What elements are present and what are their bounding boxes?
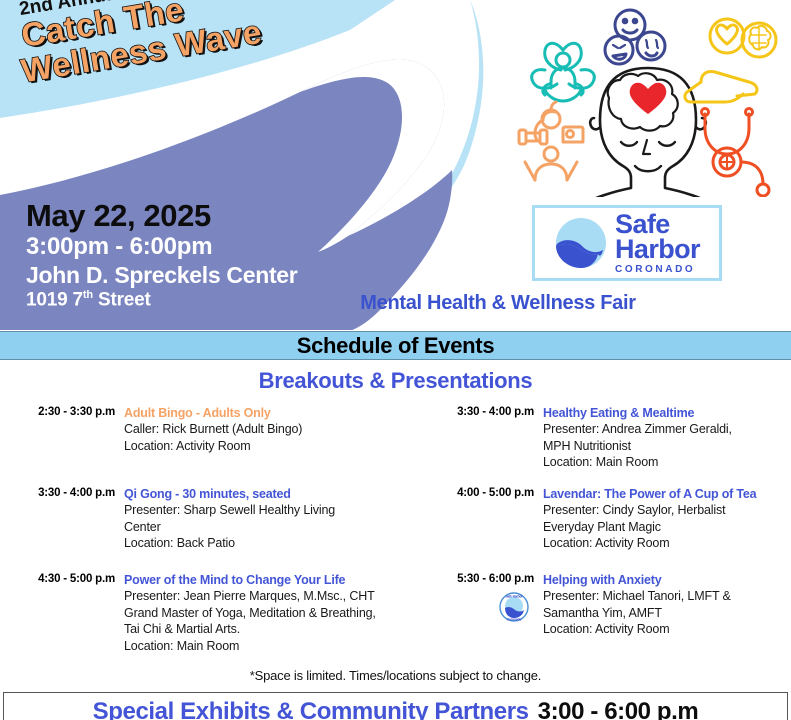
entry-body: Adult Bingo - Adults OnlyCaller: Rick Bu…: [124, 405, 409, 454]
bottom-banner-time: 3:00 - 6:00 p.m: [538, 698, 699, 720]
entry-body: Helping with AnxietyPresenter: Michael T…: [543, 572, 791, 638]
meditation-lotus-icon: [532, 43, 595, 101]
logo-subtitle: CORONADO: [615, 265, 700, 274]
head-brain-heart-icon: [587, 68, 709, 197]
entry-detail-line: Presenter: Andrea Zimmer Geraldi,: [543, 421, 791, 438]
entry-detail-line: Presenter: Sharp Sewell Healthy Living: [124, 502, 409, 519]
entry-title: Power of the Mind to Change Your Life: [124, 572, 409, 588]
entry-time: 4:00 - 5:00 p.m: [430, 486, 543, 552]
entry-title: Adult Bingo - Adults Only: [124, 405, 409, 421]
entry-detail-line: Everyday Plant Magic: [543, 519, 791, 536]
entry-detail-line: Presenter: Michael Tanori, LMFT &: [543, 588, 791, 605]
schedule-footnote: *Space is limited. Times/locations subje…: [0, 668, 791, 683]
entry-body: Qi Gong - 30 minutes, seatedPresenter: S…: [124, 486, 409, 552]
schedule-entry: 5:30 - 6:00 p.mSafe HarborCoronadoHelpin…: [430, 572, 791, 638]
entry-detail-line: Presenter: Cindy Saylor, Herbalist: [543, 502, 791, 519]
event-flyer: 2nd Annual Catch The Wellness Wave May 2…: [0, 0, 791, 720]
entry-title: Lavendar: The Power of A Cup of Tea: [543, 486, 791, 502]
safe-harbor-logo: Safe Harbor CORONADO: [532, 205, 722, 281]
breakouts-subheading: Breakouts & Presentations: [0, 368, 791, 394]
entry-time: 2:30 - 3:30 p.m: [14, 405, 124, 454]
event-date: May 22, 2025: [26, 198, 366, 233]
schedule-entry: 3:30 - 4:00 p.mHealthy Eating & Mealtime…: [430, 405, 791, 471]
bottom-banner-title: Special Exhibits & Community Partners: [93, 698, 529, 720]
schedule-entry: 3:30 - 4:00 p.mQi Gong - 30 minutes, sea…: [14, 486, 409, 552]
entry-detail-line: Location: Activity Room: [543, 535, 791, 552]
entry-detail-line: Presenter: Jean Pierre Marques, M.Msc., …: [124, 588, 409, 605]
fair-title: Mental Health & Wellness Fair: [0, 292, 791, 315]
entry-body: Healthy Eating & MealtimePresenter: Andr…: [543, 405, 791, 471]
entry-time: 4:30 - 5:00 p.m: [14, 572, 124, 655]
entry-body: Power of the Mind to Change Your LifePre…: [124, 572, 409, 655]
safe-harbor-badge-icon: Safe HarborCoronado: [499, 592, 529, 622]
schedule-banner: Schedule of Events: [0, 331, 791, 360]
schedule-entry: 4:30 - 5:00 p.mPower of the Mind to Chan…: [14, 572, 409, 655]
heart-icon: [630, 83, 667, 114]
bottom-banner: Special Exhibits & Community Partners 3:…: [3, 692, 788, 720]
hero-section: 2nd Annual Catch The Wellness Wave May 2…: [0, 0, 791, 330]
fitness-nutrition-icon: [519, 102, 583, 180]
entry-title: Helping with Anxiety: [543, 572, 791, 588]
entry-time: 5:30 - 6:00 p.mSafe HarborCoronado: [430, 572, 543, 638]
entry-detail-line: Location: Main Room: [124, 638, 409, 655]
entry-time: 3:30 - 4:00 p.m: [430, 405, 543, 471]
entry-title: Qi Gong - 30 minutes, seated: [124, 486, 409, 502]
entry-detail-line: Location: Activity Room: [543, 621, 791, 638]
emoji-faces-icon: [605, 10, 665, 64]
schedule-entry: 4:00 - 5:00 p.mLavendar: The Power of A …: [430, 486, 791, 552]
entry-detail-line: Center: [124, 519, 409, 536]
event-time: 3:00pm - 6:00pm: [26, 233, 366, 261]
entry-detail-line: MPH Nutritionist: [543, 438, 791, 455]
stethoscope-icon: [702, 109, 770, 197]
logo-line-2: Harbor: [615, 237, 700, 262]
wellness-icons-cluster: [505, 2, 791, 197]
entry-body: Lavendar: The Power of A Cup of TeaPrese…: [543, 486, 791, 552]
schedule-grid: 2:30 - 3:30 p.mAdult Bingo - Adults Only…: [0, 405, 791, 667]
svg-text:Coronado: Coronado: [507, 617, 522, 621]
entry-detail-line: Samantha Yim, AMFT: [543, 605, 791, 622]
entry-detail-line: Caller: Rick Burnett (Adult Bingo): [124, 421, 409, 438]
entry-detail-line: Location: Main Room: [543, 454, 791, 471]
safe-harbor-wave-icon: [554, 216, 608, 270]
hand-heart-brain-icon: [685, 19, 776, 102]
entry-detail-line: Location: Back Patio: [124, 535, 409, 552]
fair-title-text: Mental Health & Wellness Fair: [155, 292, 635, 315]
event-venue: John D. Spreckels Center: [26, 262, 366, 289]
entry-time: 3:30 - 4:00 p.m: [14, 486, 124, 552]
svg-text:Safe Harbor: Safe Harbor: [505, 594, 523, 598]
entry-detail-line: Tai Chi & Martial Arts.: [124, 621, 409, 638]
entry-detail-line: Grand Master of Yoga, Meditation & Breat…: [124, 605, 409, 622]
schedule-entry: 2:30 - 3:30 p.mAdult Bingo - Adults Only…: [14, 405, 409, 454]
schedule-banner-text: Schedule of Events: [297, 333, 495, 359]
entry-detail-line: Location: Activity Room: [124, 438, 409, 455]
entry-title: Healthy Eating & Mealtime: [543, 405, 791, 421]
